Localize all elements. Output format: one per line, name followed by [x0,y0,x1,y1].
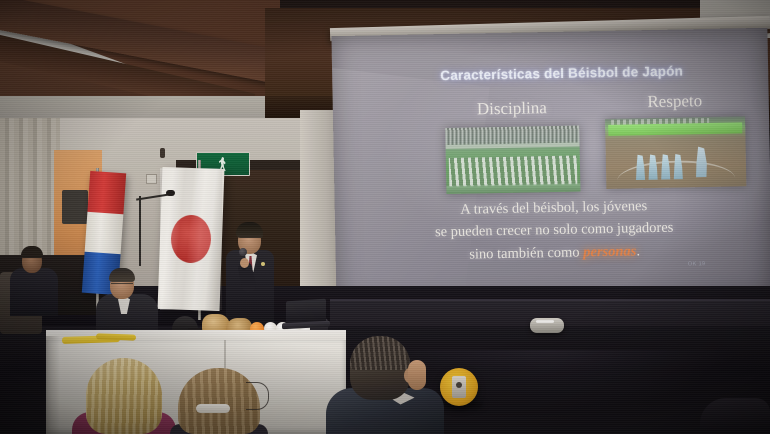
slide-heading-respeto: Respeto [605,90,745,113]
presentation-photo: Características del Béisbol de Japón Dis… [0,0,770,434]
white-hair-clip [196,404,230,413]
audience-blonde-woman-hair-strands [86,358,162,434]
table-left-shading [46,336,60,434]
slide-photo-respeto [605,116,746,189]
stage-edge [330,299,770,301]
slide-heading-disciplina: Disciplina [437,97,587,120]
projection-screen: Características del Béisbol de Japón Dis… [331,28,770,308]
audience-man-hand [408,360,426,390]
seated-official-hair [109,268,135,282]
microphone-stand [139,196,141,266]
seated-person-far-left-hair [21,246,43,258]
seated-official-glasses [111,283,133,288]
slide-corner-mark: OK 19 [688,261,706,267]
player-rows [448,156,577,187]
paraguay-flag-red-band [87,171,126,214]
presenter-lapel-pin [261,262,265,266]
microphone-capsule [166,190,175,196]
wall-socket [146,174,157,184]
cable-reel-socket [456,382,462,388]
wall-fixture-upper [160,148,165,158]
audience-woman-glasses [246,382,269,410]
handheld-microphone-head [239,248,247,256]
slide-emphasis-personas: personas [583,243,636,260]
slide-emphasis-period: . [636,243,640,259]
wall-speaker [62,190,88,224]
seated-person-far-left-body [10,268,58,316]
slide-body-line-3-text: sino también como [469,244,580,262]
stage-light-highlight [536,320,554,323]
presenter-hand [240,258,249,268]
presenter-hair [236,222,263,238]
paraguay-flag-white-band [85,211,124,254]
slide-photo-disciplina [445,125,580,194]
audience-silhouette-right [700,398,770,434]
